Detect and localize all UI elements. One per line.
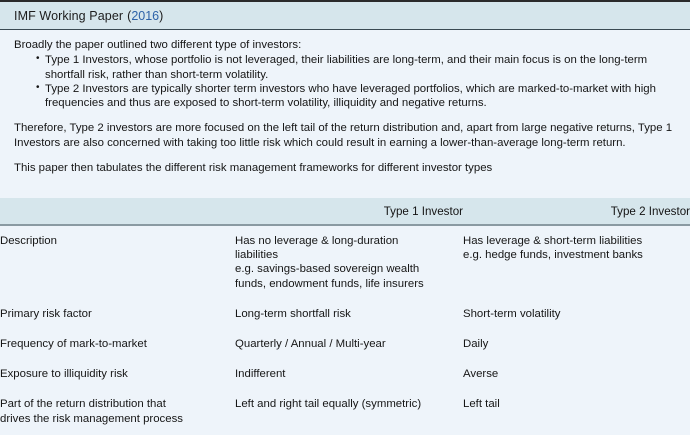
row-label: Frequency of mark-to-market bbox=[0, 329, 235, 359]
table-header: Type 1 Investor Type 2 Investor bbox=[0, 198, 690, 225]
row-label: Description bbox=[0, 225, 235, 299]
cell-type2: Left tail bbox=[463, 389, 690, 434]
table-row: Primary risk factor Long-term shortfall … bbox=[0, 299, 690, 329]
table-row: Part of the return distribution that dri… bbox=[0, 389, 690, 434]
row-label: Primary risk factor bbox=[0, 299, 235, 329]
paper-excerpt-panel: IMF Working Paper (2016) Broadly the pap… bbox=[0, 0, 690, 420]
table-row: Frequency of mark-to-market Quarterly / … bbox=[0, 329, 690, 359]
cell-type1: Quarterly / Annual / Multi-year bbox=[235, 329, 463, 359]
cell-type1: Left and right tail equally (symmetric) bbox=[235, 389, 463, 434]
list-item: Type 2 Investors are typically shorter t… bbox=[36, 82, 678, 111]
cell-type1: Has no leverage & long-duration liabilit… bbox=[235, 225, 463, 299]
cell-type2: Has leverage & short-term liabilities e.… bbox=[463, 225, 690, 299]
paren-close: ) bbox=[159, 9, 163, 23]
cell-line: Part of the return distribution that bbox=[0, 397, 227, 411]
cell-line: Has leverage & short-term liabilities bbox=[463, 234, 682, 248]
column-header-type2: Type 2 Investor bbox=[463, 198, 690, 225]
cell-type2: Daily bbox=[463, 329, 690, 359]
cell-line: funds, endowment funds, life insurers bbox=[235, 277, 455, 291]
list-item: Type 1 Investors, whose portfolio is not… bbox=[36, 53, 678, 82]
page-title: IMF Working Paper bbox=[14, 9, 123, 23]
cell-line: e.g. savings-based sovereign wealth bbox=[235, 262, 455, 276]
table-header-row: Type 1 Investor Type 2 Investor bbox=[0, 198, 690, 225]
risk-framework-table: Type 1 Investor Type 2 Investor Descript… bbox=[0, 198, 690, 435]
table-row: Description Has no leverage & long-durat… bbox=[0, 225, 690, 299]
investor-type-list: Type 1 Investors, whose portfolio is not… bbox=[14, 53, 678, 110]
cell-line: Averse bbox=[463, 367, 682, 381]
cell-type2: Averse bbox=[463, 359, 690, 389]
cell-line: Left and right tail equally (symmetric) bbox=[235, 397, 455, 411]
intro-paragraph: Broadly the paper outlined two different… bbox=[14, 38, 678, 52]
prose-body: Broadly the paper outlined two different… bbox=[0, 30, 690, 175]
paper-header: IMF Working Paper (2016) bbox=[0, 2, 690, 30]
cell-line: Short-term volatility bbox=[463, 307, 682, 321]
column-header-type1: Type 1 Investor bbox=[235, 198, 463, 225]
cell-type1: Long-term shortfall risk bbox=[235, 299, 463, 329]
column-header-blank bbox=[0, 198, 235, 225]
cell-line: e.g. hedge funds, investment banks bbox=[463, 248, 682, 262]
row-label: Exposure to illiquidity risk bbox=[0, 359, 235, 389]
paragraph-2: Therefore, Type 2 investors are more foc… bbox=[14, 121, 678, 149]
row-label: Part of the return distribution that dri… bbox=[0, 389, 235, 434]
cell-line: Indifferent bbox=[235, 367, 455, 381]
cell-type1: Indifferent bbox=[235, 359, 463, 389]
cell-line: Daily bbox=[463, 337, 682, 351]
year-link[interactable]: 2016 bbox=[131, 9, 159, 23]
cell-line: Left tail bbox=[463, 397, 682, 411]
cell-line: Has no leverage & long-duration bbox=[235, 234, 455, 248]
table-row: Exposure to illiquidity risk Indifferent… bbox=[0, 359, 690, 389]
cell-line: Long-term shortfall risk bbox=[235, 307, 455, 321]
paragraph-3: This paper then tabulates the different … bbox=[14, 161, 678, 175]
paper-year: (2016) bbox=[127, 9, 163, 23]
cell-line: drives the risk management process bbox=[0, 412, 227, 426]
cell-type2: Short-term volatility bbox=[463, 299, 690, 329]
cell-line: liabilities bbox=[235, 248, 455, 262]
table-body: Description Has no leverage & long-durat… bbox=[0, 225, 690, 435]
cell-line: Quarterly / Annual / Multi-year bbox=[235, 337, 455, 351]
